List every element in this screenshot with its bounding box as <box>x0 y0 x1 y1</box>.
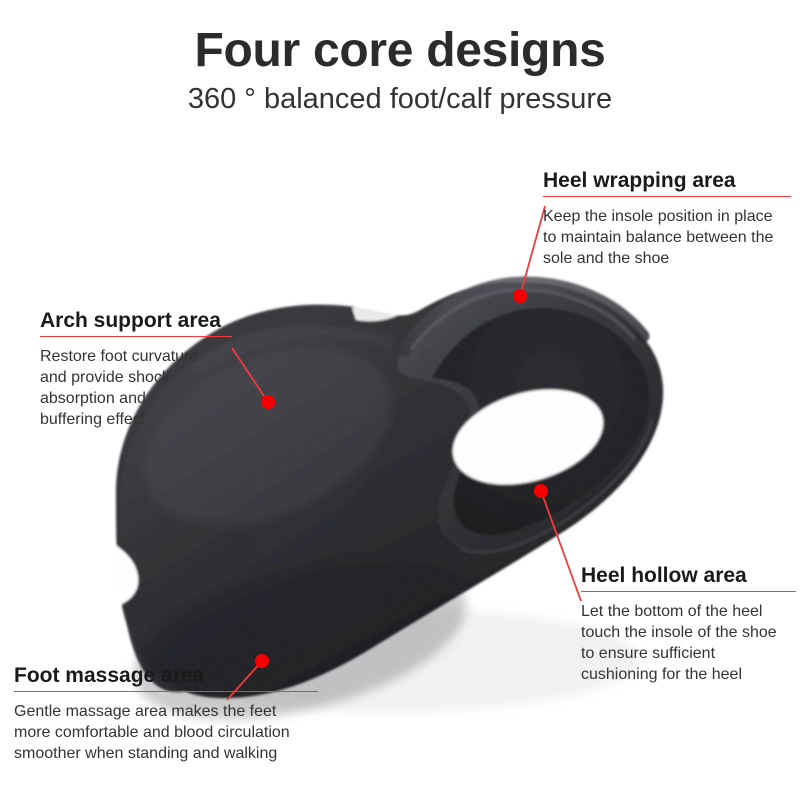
callout-body-line: smoother when standing and walking <box>14 743 320 764</box>
callout-heading: Heel hollow area <box>581 563 799 588</box>
callout-body: Let the bottom of the heel touch the ins… <box>581 592 799 685</box>
callout-body: Restore foot curvature and provide shock… <box>40 337 235 430</box>
callout-body-line: buffering effect <box>40 409 235 430</box>
callout-body-line: Gentle massage area makes the feet <box>14 701 320 722</box>
callout-body-line: cushioning for the heel <box>581 664 799 685</box>
callout-body-line: Let the bottom of the heel <box>581 601 799 622</box>
callout-heading: Heel wrapping area <box>543 168 793 193</box>
callout-body-line: absorption and <box>40 388 235 409</box>
callout-arch-support: Arch support area Restore foot curvature… <box>40 308 235 430</box>
infographic-page: Four core designs 360 ° balanced foot/ca… <box>0 0 800 800</box>
callout-body-line: more comfortable and blood circulation <box>14 722 320 743</box>
callout-body-line: touch the insole of the shoe <box>581 622 799 643</box>
callout-body-line: sole and the shoe <box>543 248 793 269</box>
callout-heel-hollow: Heel hollow area Let the bottom of the h… <box>581 563 799 685</box>
callout-body-line: Keep the insole position in place <box>543 206 793 227</box>
callout-body: Keep the insole position in place to mai… <box>543 197 793 269</box>
callout-foot-massage: Foot massage area Gentle massage area ma… <box>14 663 320 764</box>
callout-body-line: Restore foot curvature <box>40 346 235 367</box>
callout-body-line: to maintain balance between the <box>543 227 793 248</box>
callout-heel-wrapping: Heel wrapping area Keep the insole posit… <box>543 168 793 269</box>
callout-body: Gentle massage area makes the feet more … <box>14 692 320 764</box>
callout-body-line: to ensure sufficient <box>581 643 799 664</box>
callout-heading: Arch support area <box>40 308 235 333</box>
callout-heading: Foot massage area <box>14 663 320 688</box>
callout-body-line: and provide shock <box>40 367 235 388</box>
